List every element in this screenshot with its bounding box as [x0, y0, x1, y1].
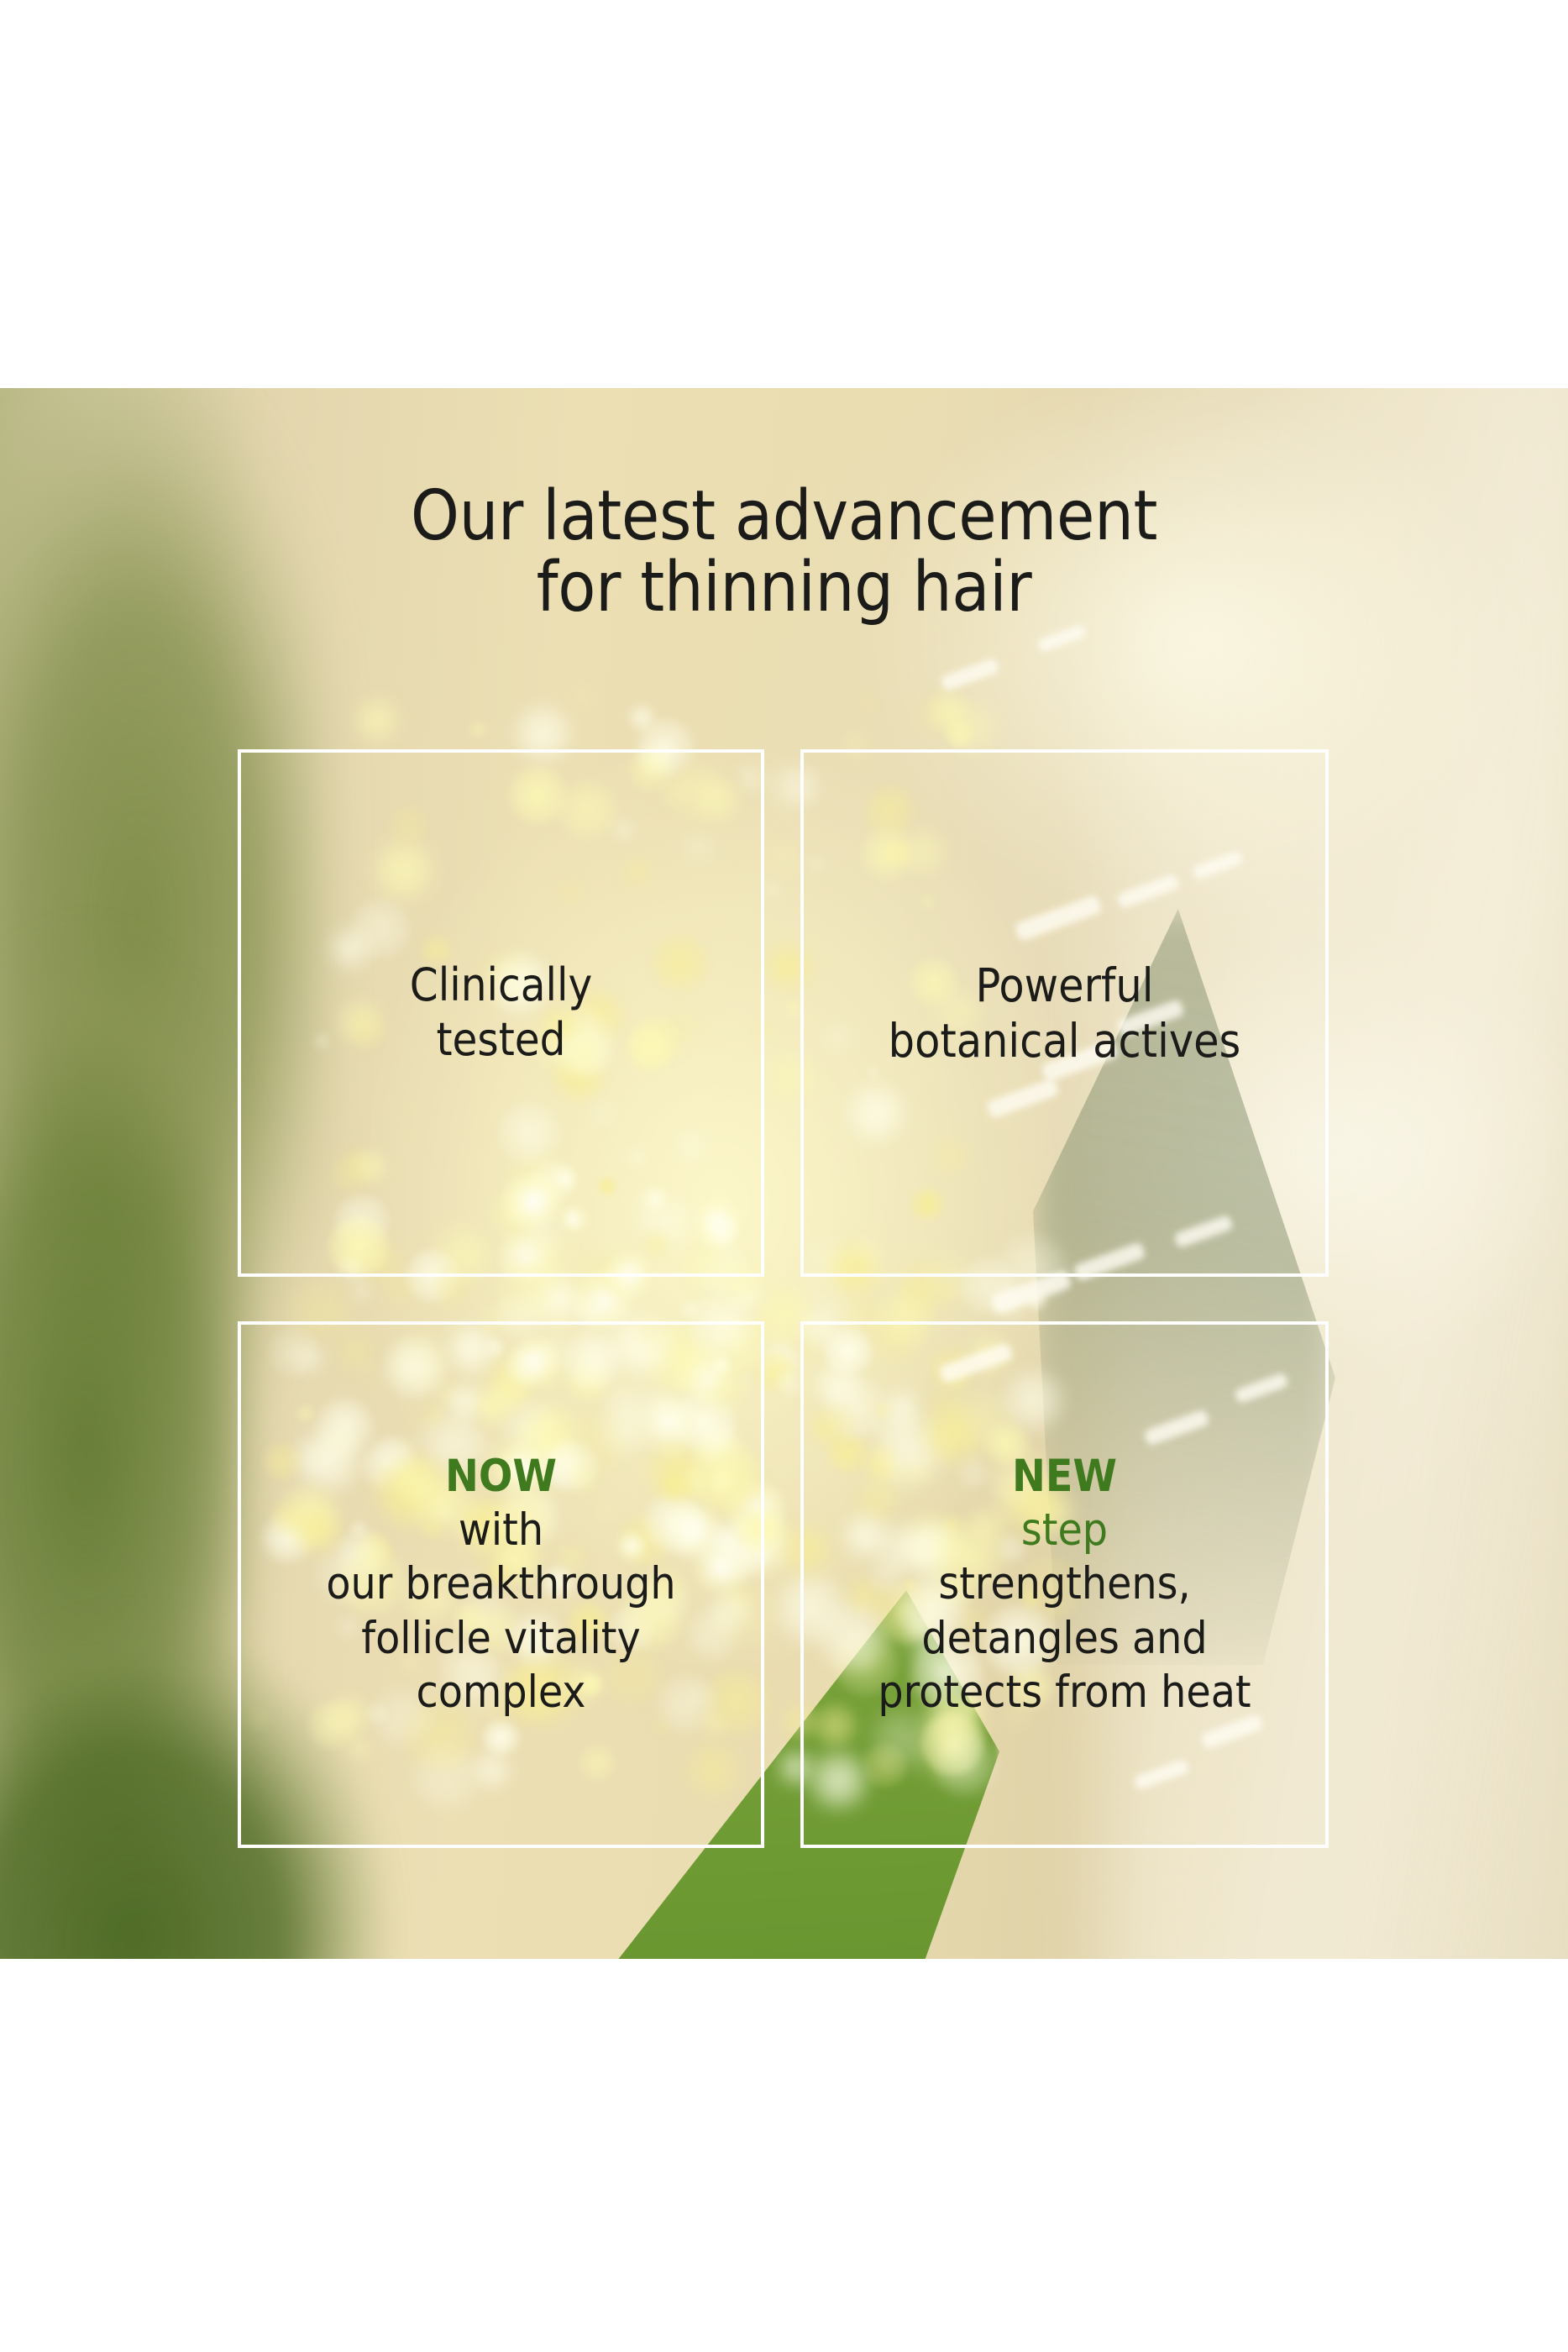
feature-box-follicle-vitality-complex: NOW with our breakthrough follicle vital…	[238, 1321, 764, 1848]
page-title: Our latest advancement for thinning hair	[0, 480, 1568, 624]
promo-content: Our latest advancement for thinning hair…	[0, 0, 1568, 2352]
feature-box-botanical-actives: Powerful botanical actives	[800, 749, 1329, 1277]
new-step-line-3: detangles and	[878, 1612, 1251, 1666]
clinically-tested-line-1: Clinically	[410, 958, 592, 1013]
clinically-tested-line-2: tested	[410, 1013, 592, 1068]
follicle-line-3: follicle vitality	[326, 1612, 675, 1666]
new-step-line-4: protects from heat	[878, 1666, 1251, 1719]
now-accent-label: NOW	[326, 1450, 675, 1504]
follicle-line-1: NOW with	[326, 1450, 675, 1557]
now-line-rest: with	[326, 1504, 675, 1557]
feature-box-clinically-tested: Clinically tested	[238, 749, 764, 1277]
headline-line-1: Our latest advancement	[0, 480, 1568, 552]
feature-box-text: NOW with our breakthrough follicle vital…	[311, 1450, 690, 1719]
feature-box-text: Clinically tested	[395, 958, 607, 1068]
new-step-line-1: NEW step	[878, 1450, 1251, 1557]
new-accent-label: NEW	[878, 1450, 1251, 1504]
step-accent-label: step	[878, 1504, 1251, 1557]
feature-box-text: Powerful botanical actives	[873, 958, 1256, 1068]
follicle-line-2: our breakthrough	[326, 1557, 675, 1611]
feature-box-text: NEW step strengthens, detangles and prot…	[863, 1450, 1266, 1719]
botanical-actives-line-1: Powerful	[889, 958, 1241, 1013]
headline-line-2: for thinning hair	[0, 552, 1568, 623]
feature-box-new-step: NEW step strengthens, detangles and prot…	[800, 1321, 1329, 1848]
follicle-line-4: complex	[326, 1666, 675, 1719]
botanical-actives-line-2: botanical actives	[889, 1013, 1241, 1068]
new-step-line-2: strengthens,	[878, 1557, 1251, 1611]
